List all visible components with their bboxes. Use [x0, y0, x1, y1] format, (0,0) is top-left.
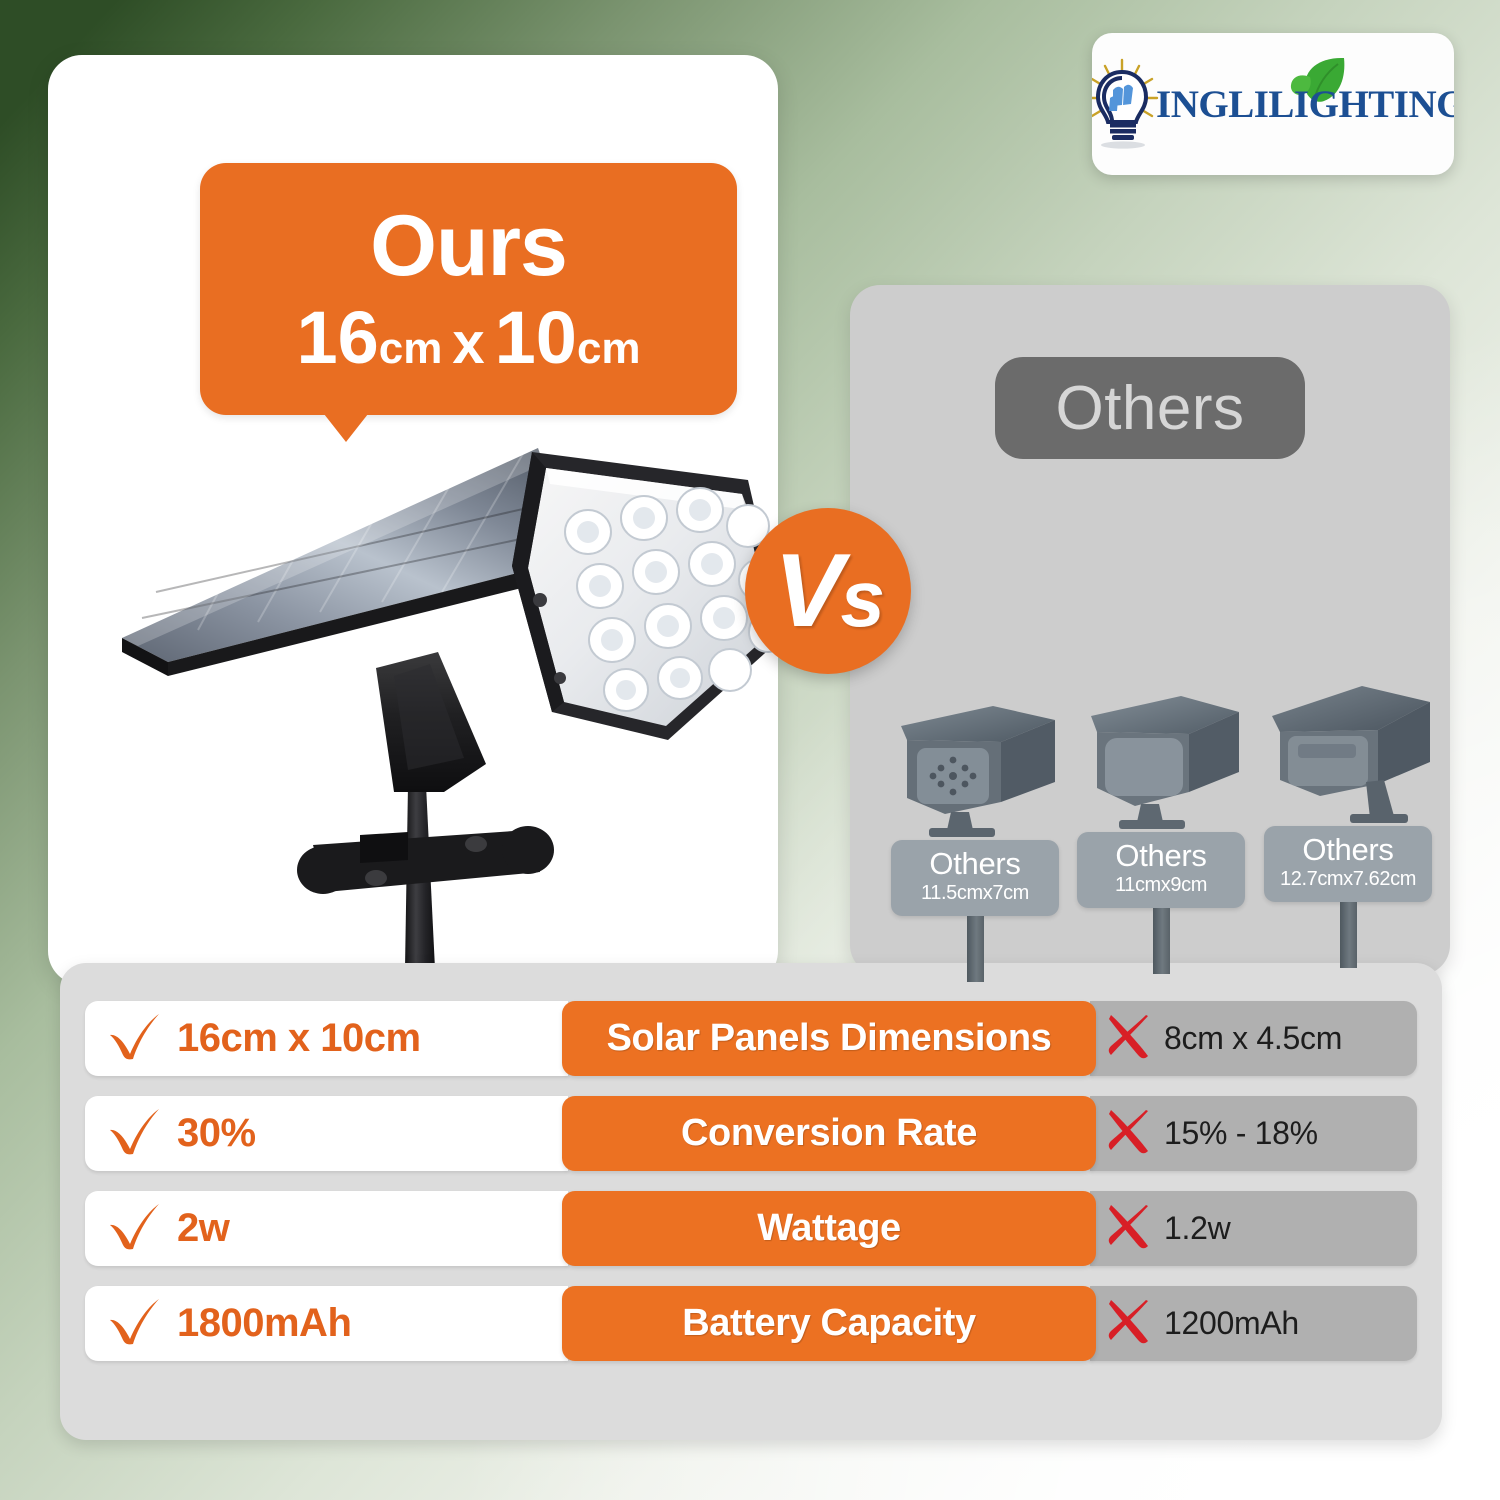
competitor-stem-1	[967, 916, 984, 982]
competitor-label-1: Others 11.5cmx7cm	[891, 840, 1059, 916]
table-row: 1800mAh Battery Capacity 1200mAh	[85, 1286, 1417, 1361]
cross-icon	[1104, 1106, 1154, 1161]
others-cell: 8cm x 4.5cm	[1090, 1001, 1417, 1076]
table-row: 30% Conversion Rate 15% - 18%	[85, 1096, 1417, 1171]
competitor-dimensions-3: 12.7cmx7.62cm	[1268, 867, 1428, 892]
competitor-dimensions-1: 11.5cmx7cm	[895, 881, 1055, 906]
competitor-dimensions-2: 11cmx9cm	[1081, 873, 1241, 898]
feature-cell: Wattage	[562, 1191, 1096, 1266]
infographic-canvas: Ours 16 cm x 10 cm Others	[0, 0, 1500, 1500]
check-icon	[107, 1010, 163, 1067]
competitor-stem-2	[1153, 908, 1170, 974]
competitor-item-2: Others 11cmx9cm	[1071, 682, 1251, 974]
ours-cell: 16cm x 10cm	[85, 1001, 568, 1076]
ours-badge-dimensions: 16 cm x 10 cm	[296, 301, 640, 375]
competitor-stem-3	[1340, 902, 1357, 968]
feature-cell: Conversion Rate	[562, 1096, 1096, 1171]
competitor-item-1: Others 11.5cmx7cm	[885, 690, 1065, 982]
vs-badge: Vs	[745, 508, 911, 674]
vs-label: Vs	[774, 539, 882, 643]
competitor-title-2: Others	[1081, 840, 1241, 873]
brand-logo-card: INGLILIGHTING	[1092, 33, 1454, 175]
ours-product-card: Ours 16 cm x 10 cm	[48, 55, 778, 985]
ours-value: 30%	[177, 1111, 256, 1156]
table-row: 16cm x 10cm Solar Panels Dimensions 8cm …	[85, 1001, 1417, 1076]
ours-cell: 1800mAh	[85, 1286, 568, 1361]
others-value: 8cm x 4.5cm	[1164, 1020, 1342, 1057]
solar-spot-light-product-image	[108, 440, 798, 1030]
competitor-label-3: Others 12.7cmx7.62cm	[1264, 826, 1432, 902]
ours-value: 2w	[177, 1206, 229, 1251]
feature-cell: Battery Capacity	[562, 1286, 1096, 1361]
ours-value: 1800mAh	[177, 1301, 351, 1346]
ours-dim-separator: x	[442, 315, 494, 373]
competitor-label-2: Others 11cmx9cm	[1077, 832, 1245, 908]
competitor-title-3: Others	[1268, 834, 1428, 867]
feature-label: Solar Panels Dimensions	[607, 1017, 1052, 1060]
brand-logo-text: INGLILIGHTING	[1156, 82, 1454, 127]
product-illustration-svg	[108, 440, 798, 1030]
cross-icon	[1104, 1201, 1154, 1256]
check-icon	[107, 1200, 163, 1257]
check-icon	[107, 1295, 163, 1352]
feature-label: Battery Capacity	[682, 1302, 976, 1345]
ours-badge-title: Ours	[370, 203, 567, 289]
others-cell: 1200mAh	[1090, 1286, 1417, 1361]
ours-dim-height: 10	[495, 301, 577, 375]
ours-cell: 30%	[85, 1096, 568, 1171]
vs-letter-s: s	[840, 559, 882, 639]
others-heading-label: Others	[1055, 373, 1244, 444]
competitor-light-icon-2	[1071, 682, 1251, 832]
competitor-light-icon-3	[1258, 676, 1438, 826]
others-heading-badge: Others	[995, 357, 1305, 459]
vs-letter-v: V	[774, 539, 840, 643]
ours-cell: 2w	[85, 1191, 568, 1266]
feature-label: Conversion Rate	[681, 1112, 977, 1155]
feature-cell: Solar Panels Dimensions	[562, 1001, 1096, 1076]
check-icon	[107, 1105, 163, 1162]
ours-dim-unit-1: cm	[379, 327, 443, 371]
comparison-table: 16cm x 10cm Solar Panels Dimensions 8cm …	[60, 963, 1442, 1440]
others-cell: 1.2w	[1090, 1191, 1417, 1266]
others-value: 1200mAh	[1164, 1305, 1299, 1342]
ours-dim-unit-2: cm	[577, 327, 641, 371]
feature-label: Wattage	[757, 1207, 901, 1250]
ours-dimension-badge: Ours 16 cm x 10 cm	[200, 163, 737, 415]
table-row: 2w Wattage 1.2w	[85, 1191, 1417, 1266]
competitor-light-icon-1	[885, 690, 1065, 840]
cross-icon	[1104, 1296, 1154, 1351]
others-value: 1.2w	[1164, 1210, 1230, 1247]
solar-panel-icon	[122, 448, 578, 676]
ours-dim-width: 16	[296, 301, 378, 375]
competitor-item-3: Others 12.7cmx7.62cm	[1258, 676, 1438, 968]
competitor-title-1: Others	[895, 848, 1055, 881]
cross-icon	[1104, 1011, 1154, 1066]
others-value: 15% - 18%	[1164, 1115, 1318, 1152]
others-cell: 15% - 18%	[1090, 1096, 1417, 1171]
ours-value: 16cm x 10cm	[177, 1016, 421, 1061]
